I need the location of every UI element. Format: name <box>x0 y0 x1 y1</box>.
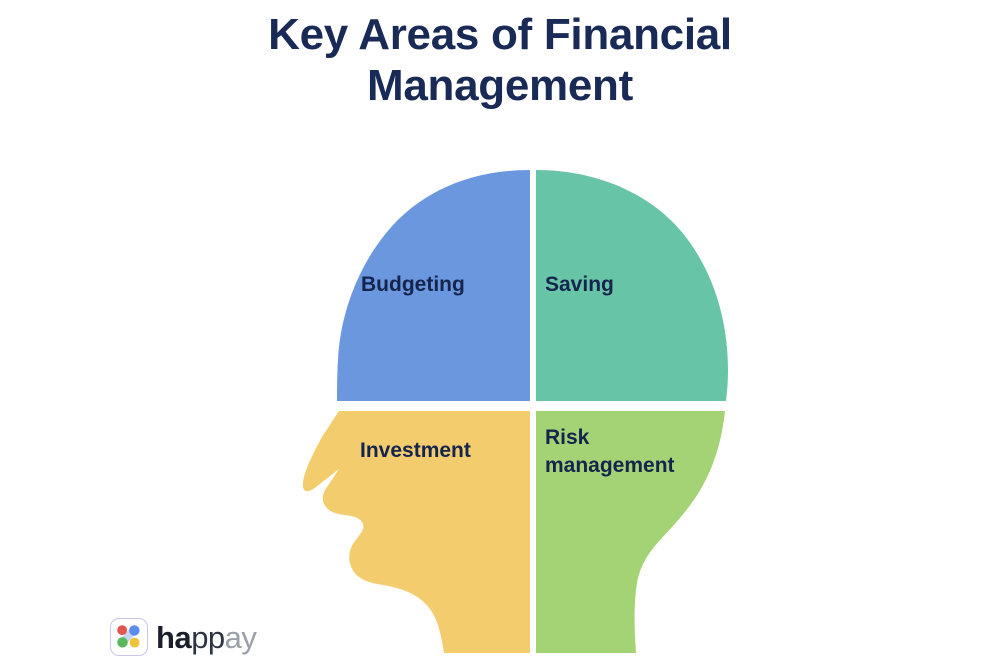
wordmark-part-pp: pp <box>191 622 224 653</box>
quadrant-label-investment: Investment <box>360 437 471 465</box>
quadrant-label-saving: Saving <box>545 271 614 299</box>
quadrant-label-budgeting: Budgeting <box>361 271 465 299</box>
wordmark-part-ha: ha <box>156 622 191 653</box>
dot-blue-icon <box>129 625 140 636</box>
head-silhouette-svg <box>0 0 1000 670</box>
dot-yellow-icon <box>130 638 140 648</box>
dot-red-icon <box>117 625 127 635</box>
dot-green-icon <box>117 637 128 648</box>
happay-wordmark: ha pp ay <box>156 622 256 653</box>
happay-logo-mark-icon <box>110 618 148 656</box>
happay-logo[interactable]: ha pp ay <box>110 618 256 656</box>
quadrant-label-risk-management: Risk management <box>545 424 675 481</box>
wordmark-part-ay: ay <box>225 622 257 653</box>
four-dots-icon <box>111 619 146 654</box>
head-diagram: Budgeting Saving Investment Risk managem… <box>0 0 1000 670</box>
infographic-canvas: Key Areas of Financial Management Budget… <box>0 0 1000 670</box>
